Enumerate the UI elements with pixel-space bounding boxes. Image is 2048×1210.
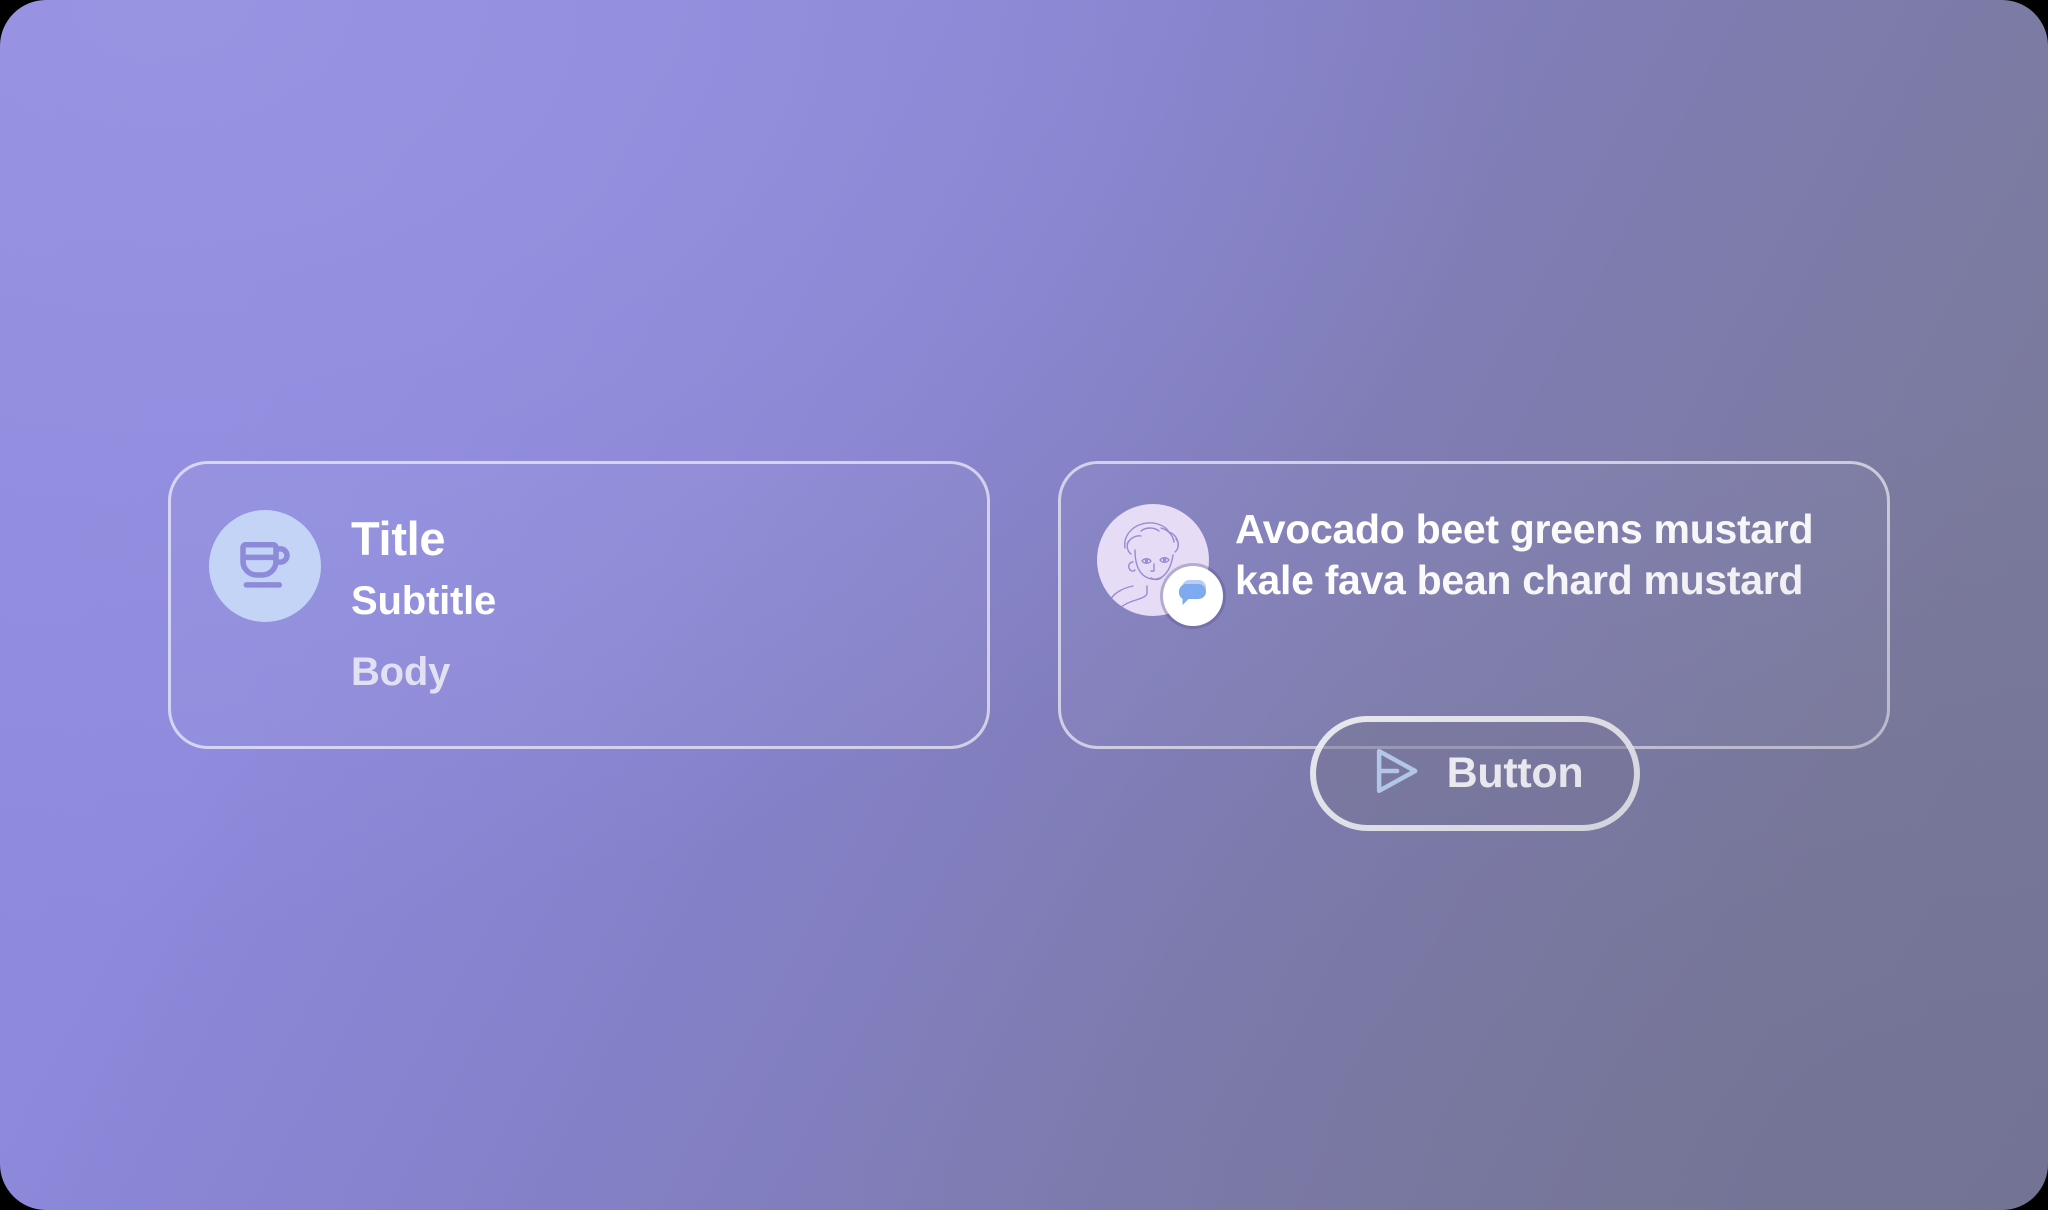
info-card-text-block: Title Subtitle Body bbox=[351, 510, 496, 694]
chat-bubble-icon bbox=[1173, 574, 1213, 619]
send-triangle-icon bbox=[1367, 744, 1425, 803]
message-text: Avocado beet greens mustard kale fava be… bbox=[1235, 504, 1887, 606]
chat-badge bbox=[1163, 566, 1223, 626]
card-title: Title bbox=[351, 514, 496, 564]
send-button[interactable]: Button bbox=[1310, 716, 1640, 831]
coffee-cup-icon bbox=[232, 531, 298, 602]
send-button-label: Button bbox=[1447, 749, 1584, 798]
avatar[interactable] bbox=[1097, 504, 1209, 616]
message-card[interactable]: Avocado beet greens mustard kale fava be… bbox=[1058, 461, 1890, 749]
info-card[interactable]: Title Subtitle Body bbox=[168, 461, 990, 749]
card-body: Body bbox=[351, 651, 496, 694]
canvas-root: Title Subtitle Body bbox=[0, 0, 2048, 1210]
card-subtitle: Subtitle bbox=[351, 580, 496, 623]
coffee-cup-icon-container bbox=[209, 510, 321, 622]
